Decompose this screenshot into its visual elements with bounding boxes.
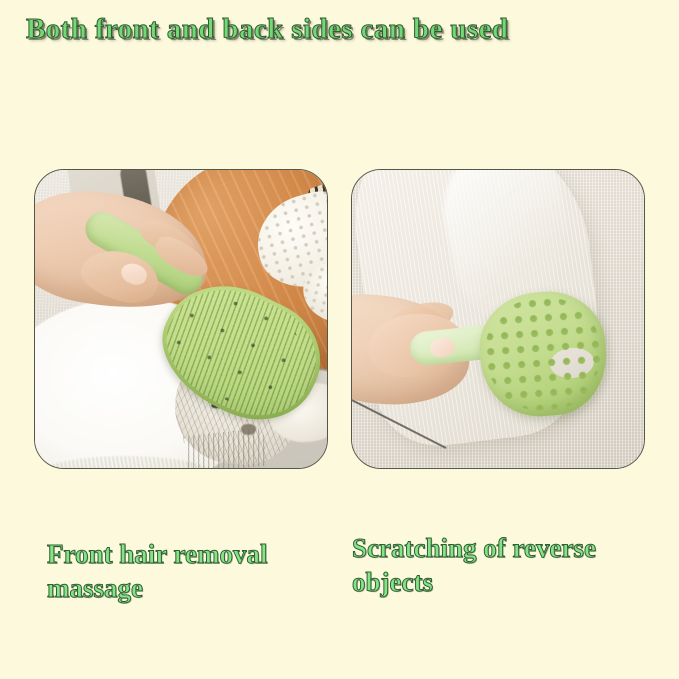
page-title: Both front and back sides can be used xyxy=(26,13,656,46)
front-side-caption: Front hair removal massage xyxy=(47,537,327,605)
caption-line-1: Front hair removal xyxy=(47,537,327,571)
caption-line-1: Scratching of reverse xyxy=(352,531,652,565)
caption-line-2: massage xyxy=(47,571,327,605)
caption-line-2: objects xyxy=(352,565,652,599)
sofa-scratching-scene xyxy=(352,170,644,468)
infographic-page: Both front and back sides can be used xyxy=(0,0,679,679)
back-side-photo-panel xyxy=(351,169,645,469)
cat-grooming-scene xyxy=(35,170,327,468)
back-side-caption: Scratching of reverse objects xyxy=(352,531,652,599)
cat-whiskers xyxy=(183,428,267,468)
front-side-photo-panel xyxy=(34,169,328,469)
